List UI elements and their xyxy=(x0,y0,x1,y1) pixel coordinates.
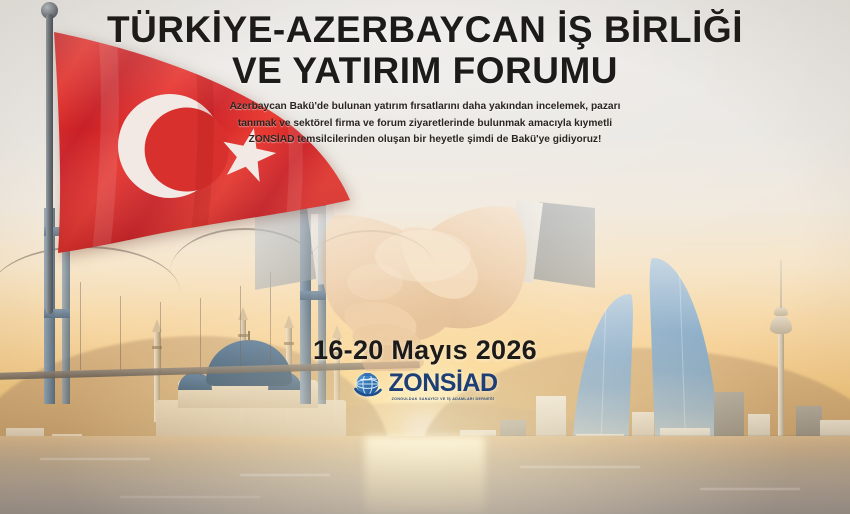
logo-wordmark: ZONSİAD xyxy=(389,371,498,396)
title-line-2: VE YATIRIM FORUMU xyxy=(0,50,850,91)
event-description: Azerbaycan Bakü'de bulunan yatırım fırsa… xyxy=(215,99,635,149)
event-date: 16-20 Mayıs 2026 xyxy=(0,335,850,366)
zonsiad-logo[interactable]: ZONSİAD ZONGULDAK SANAYİCİ VE İŞ ADAMLAR… xyxy=(353,370,498,402)
event-poster: TÜRKİYE-AZERBAYCAN İŞ BİRLİĞİ VE YATIRIM… xyxy=(0,0,850,514)
title-line-1: TÜRKİYE-AZERBAYCAN İŞ BİRLİĞİ xyxy=(107,9,743,50)
page-title: TÜRKİYE-AZERBAYCAN İŞ BİRLİĞİ VE YATIRIM… xyxy=(0,9,850,92)
logo-subtitle: ZONGULDAK SANAYİCİ VE İŞ ADAMLARI DERNEĞ… xyxy=(392,397,495,401)
globe-icon xyxy=(353,370,385,402)
